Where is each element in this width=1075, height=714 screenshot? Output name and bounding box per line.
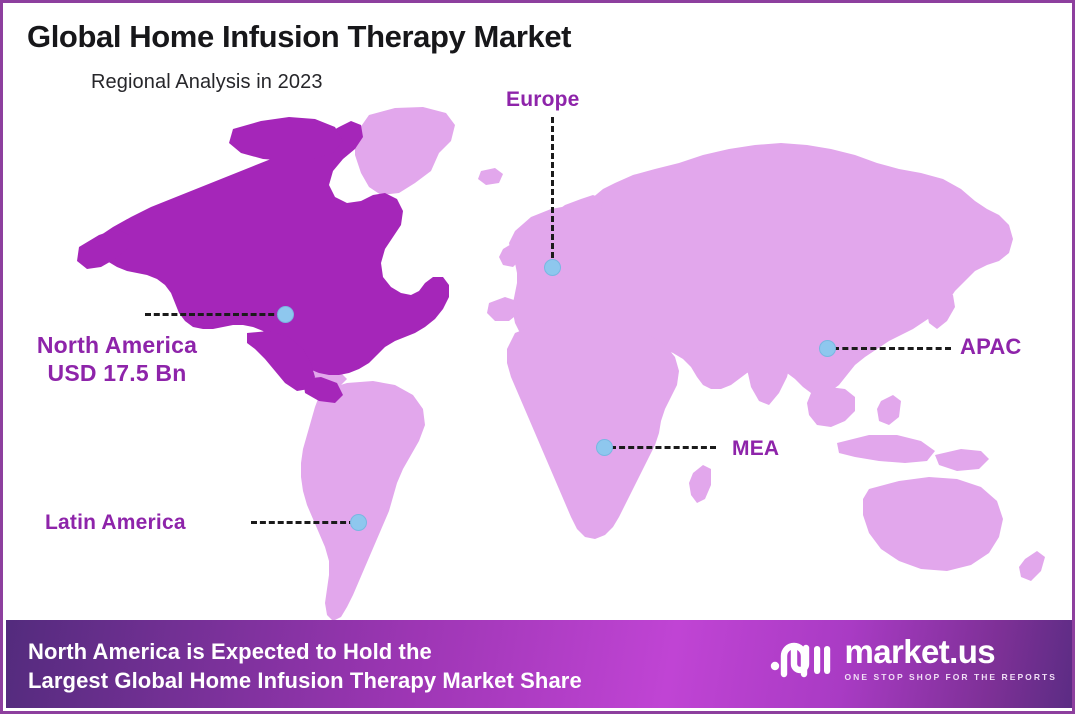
map-dot-north-america[interactable] [277, 306, 294, 323]
footer-banner-text: North America is Expected to Hold the La… [28, 637, 582, 695]
leader-line-mea [610, 446, 716, 449]
logo-tagline: ONE STOP SHOP FOR THE REPORTS [845, 672, 1057, 682]
footer-banner-line1: North America is Expected to Hold the [28, 637, 582, 666]
market-us-logo[interactable]: market.us ONE STOP SHOP FOR THE REPORTS [770, 634, 1057, 682]
map-dot-mea[interactable] [596, 439, 613, 456]
region-label-latin-america: Latin America [45, 510, 186, 536]
leader-line-north-america [145, 313, 283, 316]
region-label-europe: Europe [506, 87, 580, 113]
footer-banner-line2: Largest Global Home Infusion Therapy Mar… [28, 666, 582, 695]
region-label-north-america: North America [17, 331, 217, 359]
callout-north-america: North America USD 17.5 Bn [17, 331, 217, 387]
footer-banner: North America is Expected to Hold the La… [6, 620, 1075, 708]
region-value-north-america: USD 17.5 Bn [17, 359, 217, 387]
callout-latin-america: Latin America [45, 510, 186, 536]
infographic-canvas: Global Home Infusion Therapy Market Regi… [0, 0, 1075, 714]
map-dot-latin-america[interactable] [350, 514, 367, 531]
market-us-logo-text: market.us ONE STOP SHOP FOR THE REPORTS [845, 635, 1057, 682]
callout-europe: Europe [506, 87, 580, 113]
market-us-logo-mark-icon [770, 634, 832, 682]
region-label-apac: APAC [960, 334, 1022, 361]
leader-line-europe [551, 117, 554, 267]
leader-line-latin-america [251, 521, 355, 524]
callout-mea: MEA [732, 436, 779, 462]
region-label-mea: MEA [732, 436, 779, 462]
map-dot-europe[interactable] [544, 259, 561, 276]
logo-wordmark: market.us [845, 635, 996, 668]
leader-line-apac [833, 347, 951, 350]
map-dot-apac[interactable] [819, 340, 836, 357]
callout-apac: APAC [960, 334, 1022, 361]
